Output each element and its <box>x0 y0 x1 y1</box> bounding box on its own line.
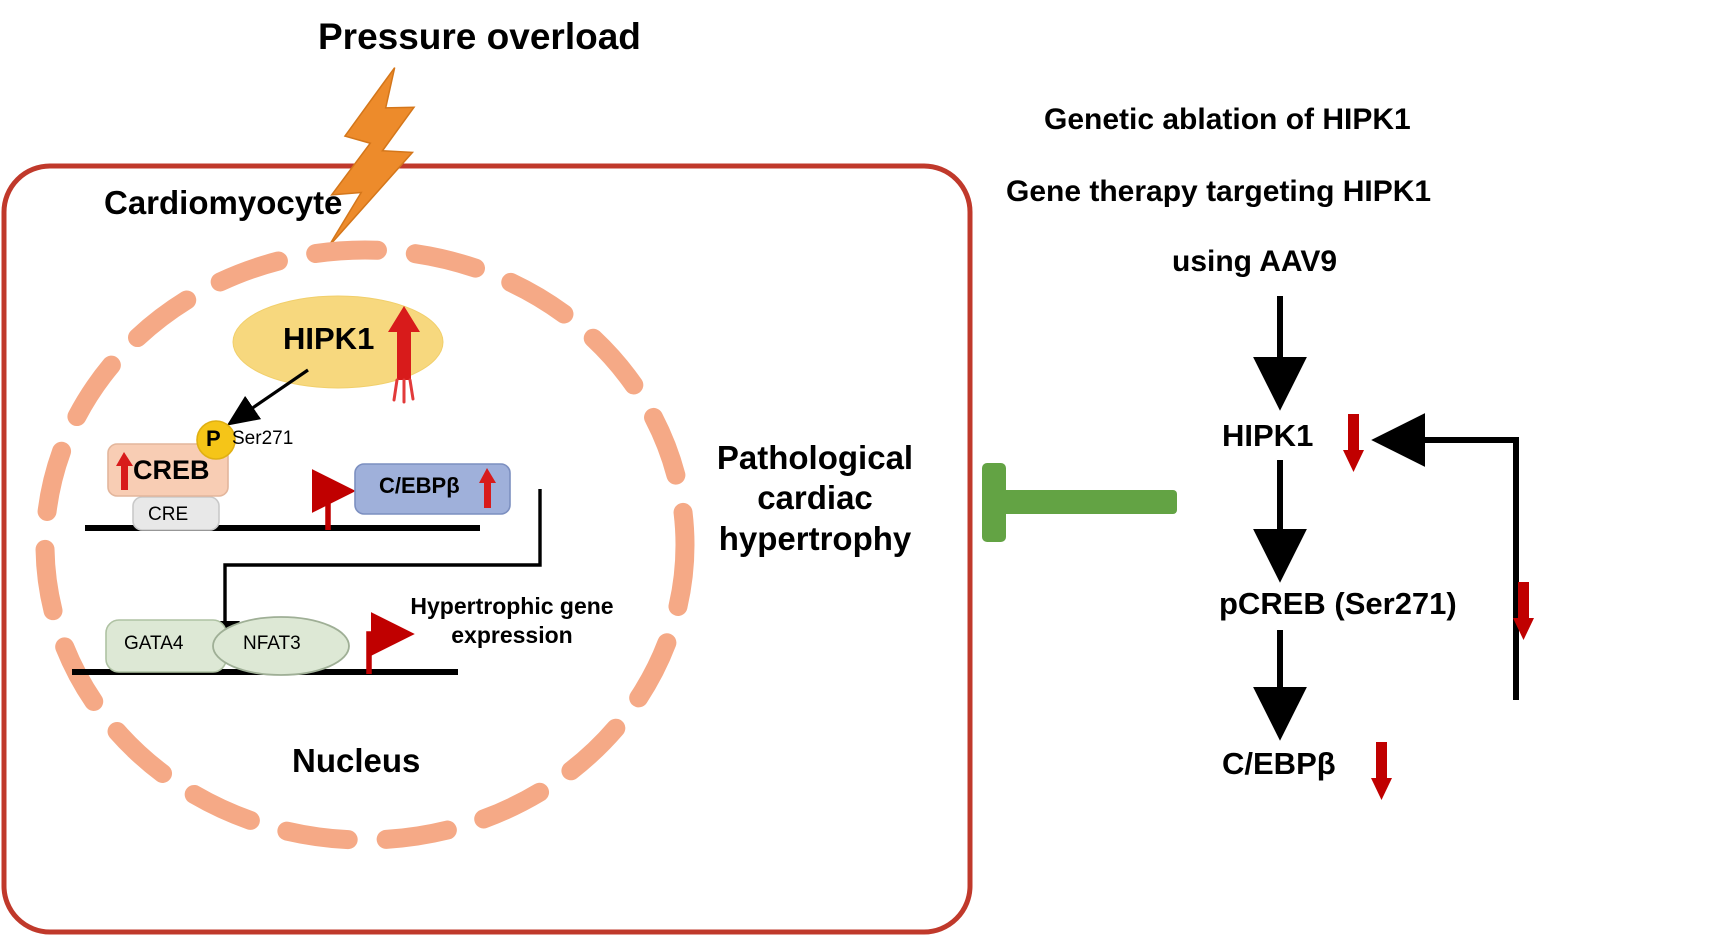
red-down-arrow-icon-cebpb <box>1371 742 1392 800</box>
creb-label: CREB <box>133 456 210 484</box>
nfat3-label: NFAT3 <box>243 634 301 654</box>
pathological-hypertrophy-label: Pathological cardiac hypertrophy <box>700 438 930 559</box>
pathway-figure: Pressure overload Cardiomyocyte Nucleus … <box>0 0 1716 938</box>
phospho-badge-label: P <box>206 427 221 450</box>
cascade-node-hipk1-label: HIPK1 <box>1222 420 1313 453</box>
hipk1-node-label: HIPK1 <box>283 323 374 356</box>
pressure-overload-label: Pressure overload <box>318 18 641 57</box>
cebpb-feedback-to-hipk1-arrow <box>1382 440 1516 700</box>
cre-element-label: CRE <box>148 505 188 525</box>
aav9-label: using AAV9 <box>1172 246 1337 278</box>
ser271-site-label: Ser271 <box>232 429 293 449</box>
genetic-ablation-label: Genetic ablation of HIPK1 <box>1044 104 1411 136</box>
cascade-node-cebpb-label: C/EBPβ <box>1222 748 1336 781</box>
gene-therapy-label: Gene therapy targeting HIPK1 <box>1006 176 1431 208</box>
hypertrophic-gene-expression-label: Hypertrophic gene expression <box>388 592 636 650</box>
cascade-node-pcreb-label: pCREB (Ser271) <box>1219 588 1457 621</box>
gata4-label: GATA4 <box>124 634 183 654</box>
t-bar-inhibition-icon <box>982 463 1177 542</box>
red-down-arrow-icon-hipk1 <box>1343 414 1364 472</box>
nucleus-label: Nucleus <box>292 744 420 779</box>
cardiomyocyte-label: Cardiomyocyte <box>104 186 342 221</box>
cebpb-label: C/EBPβ <box>379 474 460 497</box>
